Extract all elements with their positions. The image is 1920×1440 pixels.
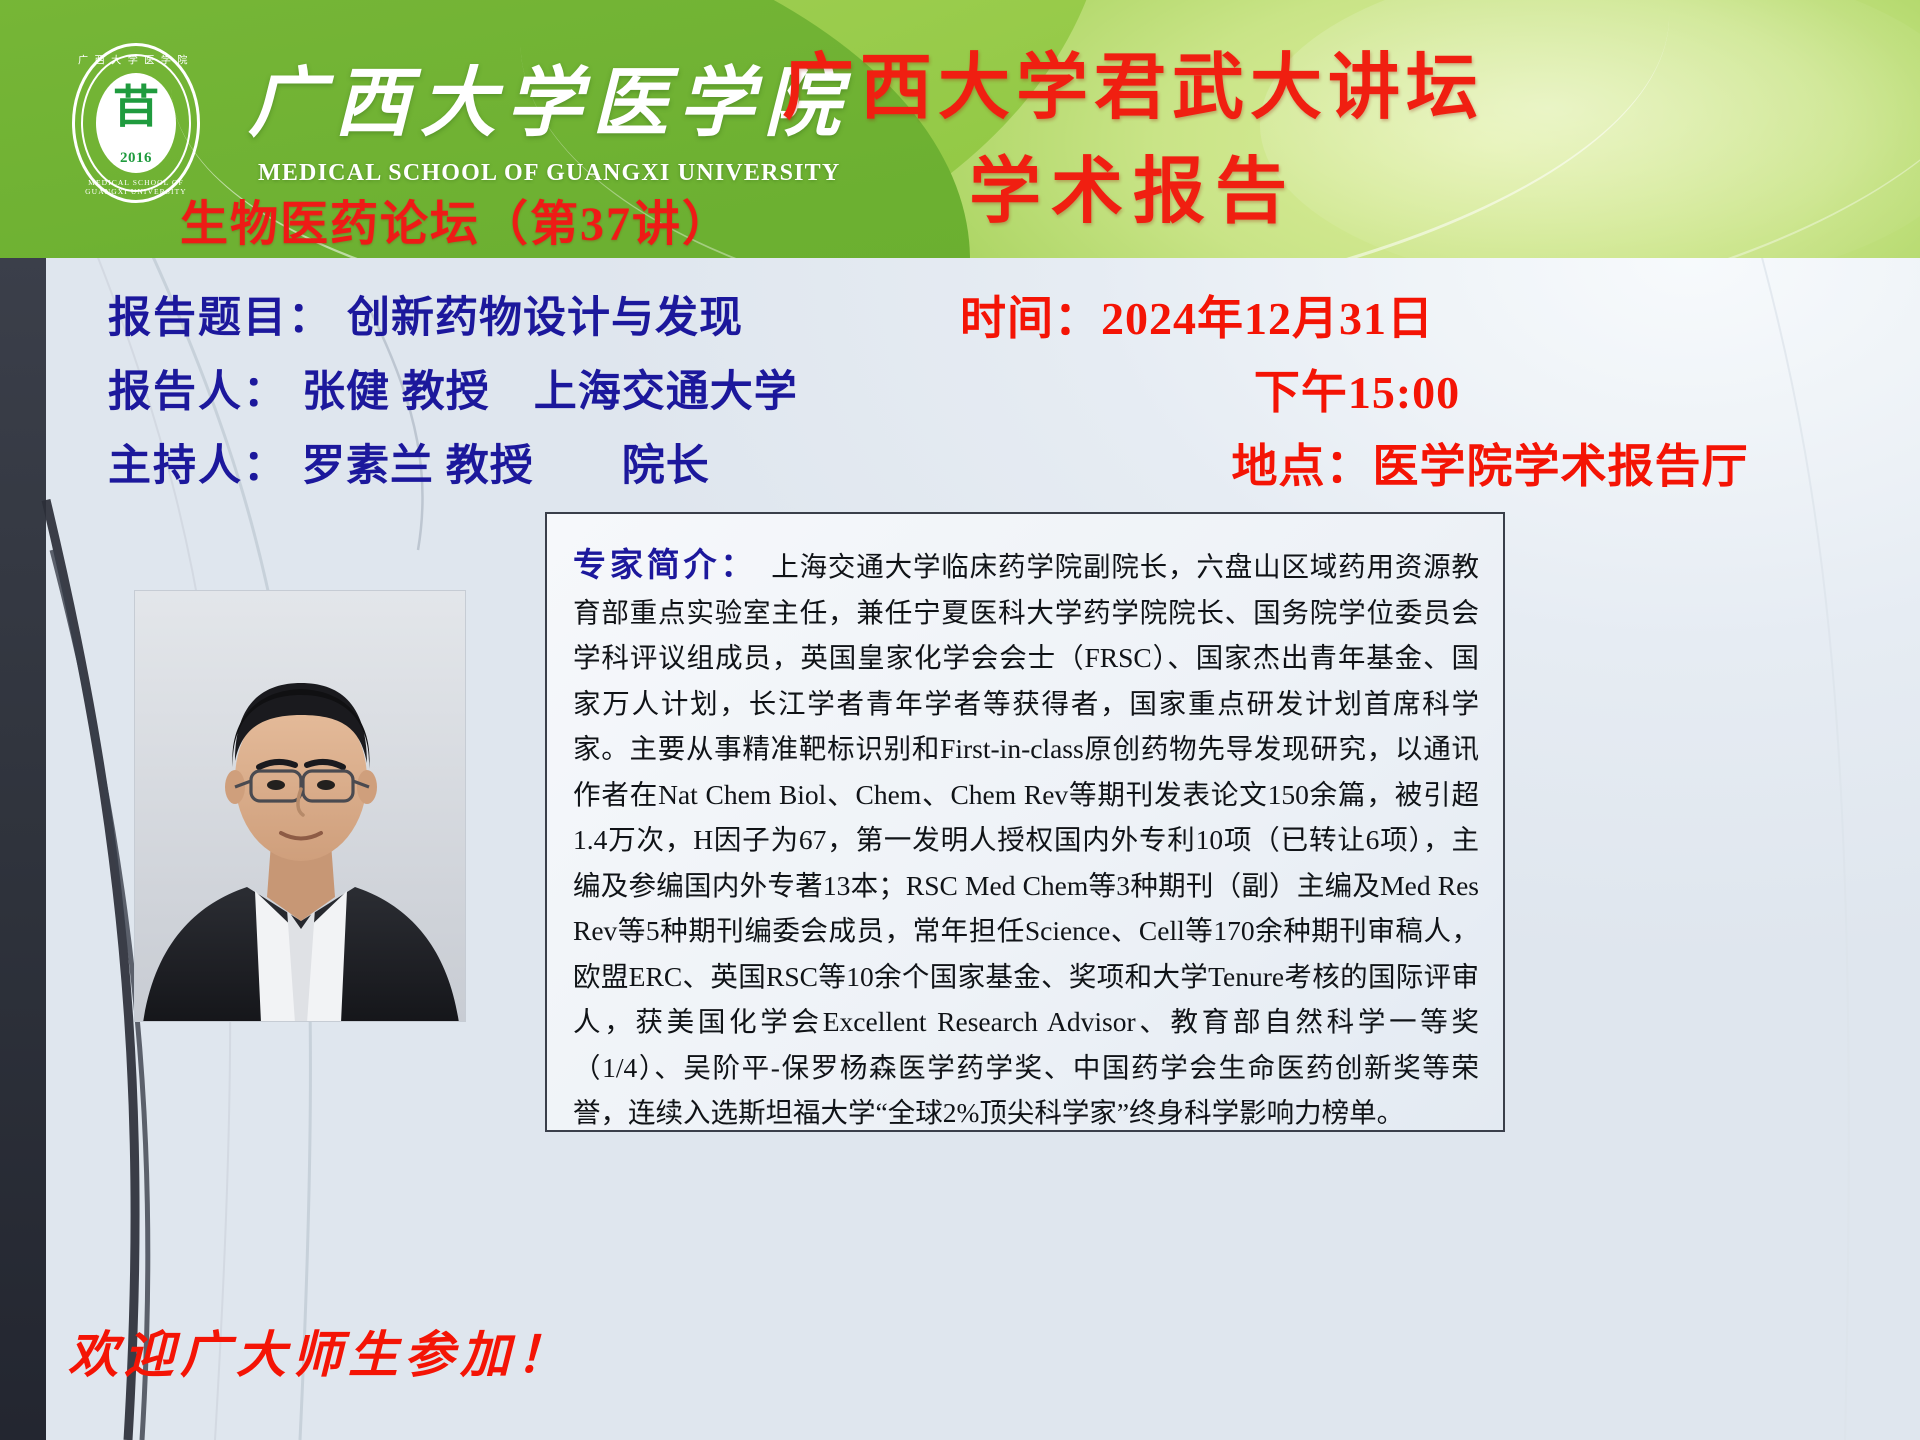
welcome-message: 欢迎广大师生参加！ (68, 1325, 572, 1385)
portrait-illustration (135, 591, 466, 1022)
poster-title-sub: 学术报告 (718, 152, 1548, 232)
time-label: 时间： (960, 293, 1101, 344)
place-row: 地点：医学院学术报告厅 (950, 430, 1870, 504)
schedule-block: 时间：2024年12月31日 下午15:00 地点：医学院学术报告厅 (950, 282, 1870, 504)
seal-inner-disc: 䒤 2016 (96, 73, 176, 173)
speaker-bio-text: 专家简介：上海交通大学临床药学院副院长，六盘山区域药用资源教育部重点实验室主任，… (573, 544, 1479, 1136)
medical-school-logo: 广西大学医学院 MEDICAL SCHOOL OF GUANGXI UNIVER… (72, 43, 200, 203)
speaker-portrait-photo (134, 590, 466, 1022)
speaker-value: 张健 教授 上海交通大学 (302, 369, 798, 416)
poster-title-main: 广西大学君武大讲坛 (718, 48, 1548, 128)
talk-info-block: 报告题目：创新药物设计与发现 报告人：张健 教授 上海交通大学 主持人：罗素兰 … (108, 282, 988, 504)
time-row: 时间：2024年12月31日 (950, 282, 1870, 356)
host-row: 主持人：罗素兰 教授 院长 (108, 430, 988, 504)
time-clock-value: 下午15:00 (1254, 367, 1460, 418)
host-value: 罗素兰 教授 院长 (302, 443, 710, 490)
time-date-value: 2024年12月31日 (1101, 293, 1434, 344)
time-clock-row: 下午15:00 (950, 356, 1870, 430)
seal-emblem-glyph: 䒤 (96, 79, 176, 137)
speaker-bio-box: 专家简介：上海交通大学临床药学院副院长，六盘山区域药用资源教育部重点实验室主任，… (545, 512, 1505, 1132)
seal-year-label: 2016 (96, 150, 176, 167)
speaker-row: 报告人：张健 教授 上海交通大学 (108, 356, 988, 430)
speaker-bio-label: 专家简介： (573, 548, 757, 584)
talk-title-value: 创新药物设计与发现 (347, 295, 743, 342)
forum-series-label: 生物医药论坛（第37讲） (180, 196, 732, 254)
speaker-bio-body: 上海交通大学临床药学院副院长，六盘山区域药用资源教育部重点实验室主任，兼任宁夏医… (573, 551, 1479, 1128)
host-label: 主持人： (108, 443, 288, 490)
talk-title-row: 报告题目：创新药物设计与发现 (108, 282, 988, 356)
seminar-poster: 广西大学医学院 MEDICAL SCHOOL OF GUANGXI UNIVER… (0, 0, 1920, 1440)
place-value: 医学院学术报告厅 (1373, 441, 1749, 492)
talk-title-label: 报告题目： (108, 295, 333, 342)
seal-arc-cn-text: 广西大学医学院 (77, 53, 195, 68)
seal-arc-en-text: MEDICAL SCHOOL OF GUANGXI UNIVERSITY (72, 178, 200, 196)
speaker-label: 报告人： (108, 369, 288, 416)
place-label: 地点： (1232, 441, 1373, 492)
